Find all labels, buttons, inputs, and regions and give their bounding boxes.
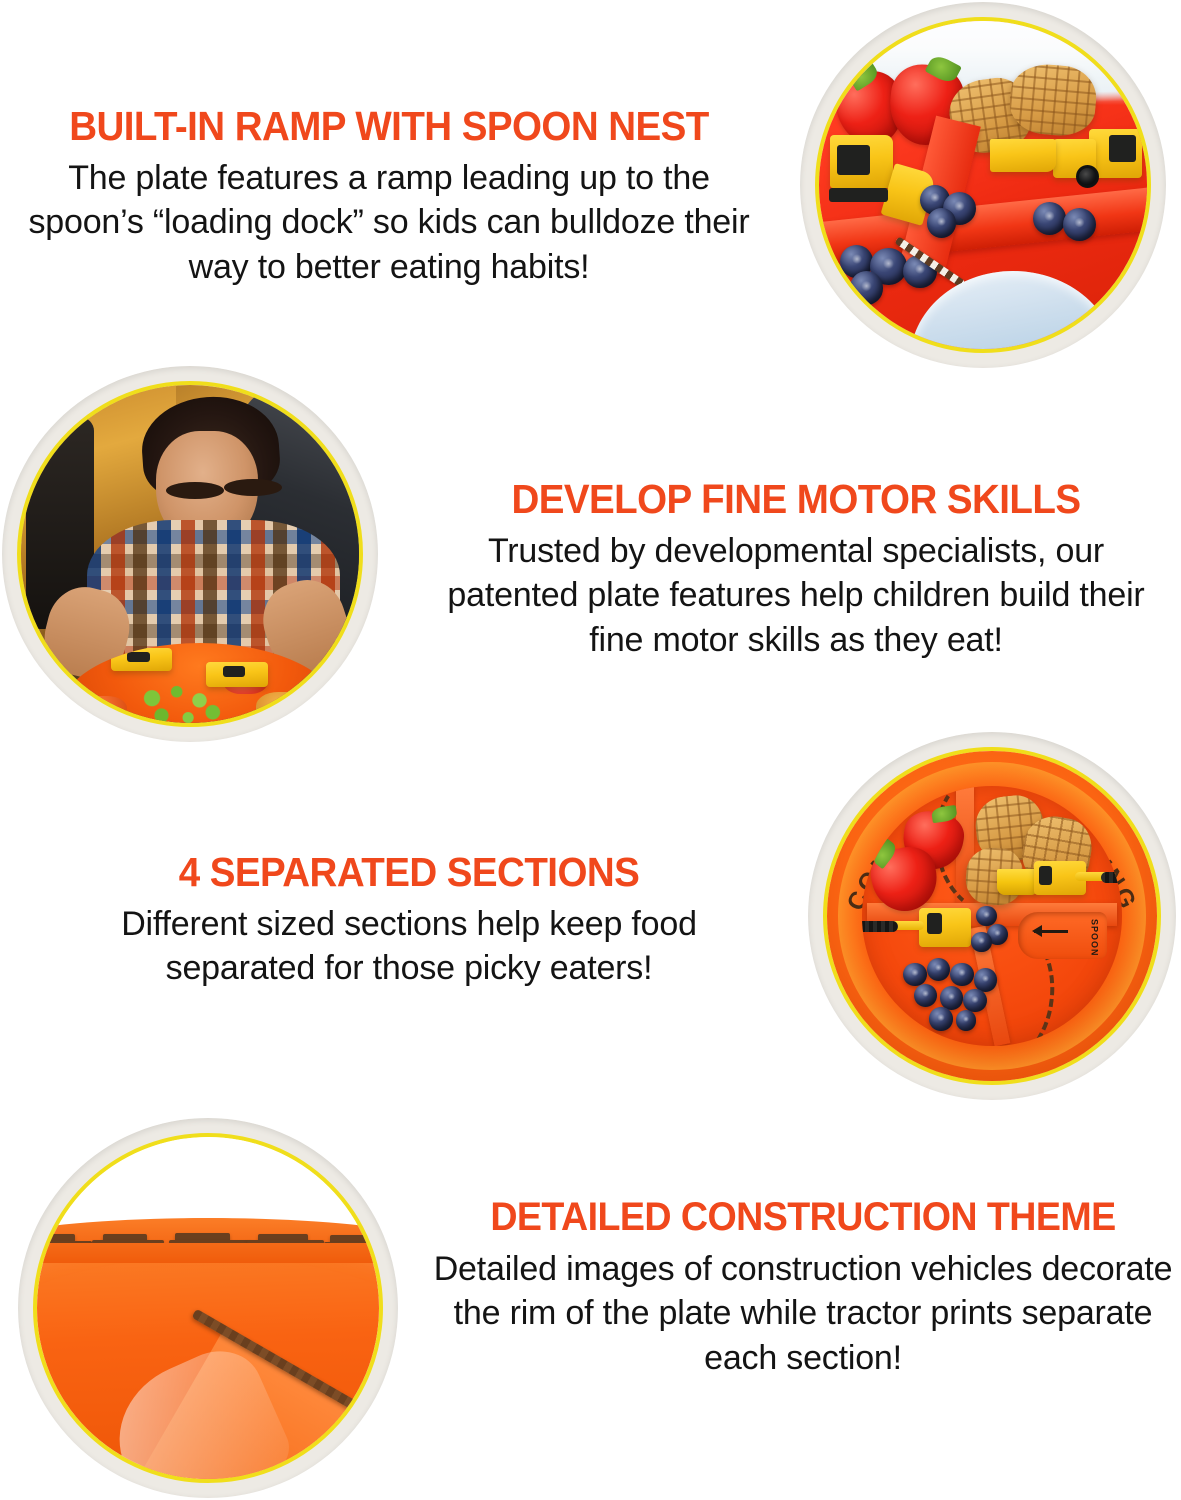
photo-ring-yellow: CONSTRUCTIVE EATING bbox=[823, 747, 1161, 1085]
plate-ramp-closeup-photo bbox=[817, 19, 1149, 351]
spoon-nest-loading-dock: SPOON bbox=[1018, 912, 1107, 959]
feature-body-construction-theme: Detailed images of construction vehicles… bbox=[432, 1247, 1174, 1380]
feature-text-fine-motor-skills: DEVELOP FINE MOTOR SKILLS Trusted by dev… bbox=[420, 477, 1172, 662]
spoon-direction-arrow-icon bbox=[1034, 930, 1068, 933]
feature-body-fine-motor-skills: Trusted by developmental specialists, ou… bbox=[420, 529, 1172, 662]
feature-text-ramp-spoon-nest: BUILT-IN RAMP WITH SPOON NEST The plate … bbox=[8, 104, 770, 289]
product-feature-infographic: BUILT-IN RAMP WITH SPOON NEST The plate … bbox=[0, 0, 1181, 1500]
rim-vehicle-silhouettes bbox=[35, 1211, 381, 1263]
photo-frame-full-plate: CONSTRUCTIVE EATING bbox=[808, 732, 1176, 1100]
photo-frame-plate-rim-detail bbox=[18, 1118, 398, 1498]
feature-text-four-sections: 4 SEPARATED SECTIONS Different sized sec… bbox=[52, 850, 766, 991]
feature-heading-construction-theme: DETAILED CONSTRUCTION THEME bbox=[454, 1196, 1151, 1239]
photo-frame-plate-ramp-closeup bbox=[800, 2, 1166, 368]
feature-body-ramp-spoon-nest: The plate features a ramp leading up to … bbox=[8, 156, 770, 289]
feature-body-four-sections: Different sized sections help keep food … bbox=[52, 902, 766, 990]
feature-text-construction-theme: DETAILED CONSTRUCTION THEME Detailed ima… bbox=[432, 1196, 1174, 1380]
feature-heading-ramp-spoon-nest: BUILT-IN RAMP WITH SPOON NEST bbox=[31, 104, 747, 148]
plate-rim-detail-photo bbox=[35, 1135, 381, 1481]
feature-heading-four-sections: 4 SEPARATED SECTIONS bbox=[73, 850, 744, 894]
spoon-nest-label: SPOON bbox=[1090, 919, 1100, 957]
photo-ring-yellow bbox=[17, 381, 363, 727]
photo-ring-yellow bbox=[33, 1133, 383, 1483]
photo-ring-yellow bbox=[815, 17, 1151, 353]
full-plate-top-view-photo: CONSTRUCTIVE EATING bbox=[825, 749, 1159, 1083]
feature-heading-fine-motor-skills: DEVELOP FINE MOTOR SKILLS bbox=[443, 477, 1150, 521]
child-eating-photo bbox=[19, 383, 361, 725]
photo-frame-child-eating bbox=[2, 366, 378, 742]
